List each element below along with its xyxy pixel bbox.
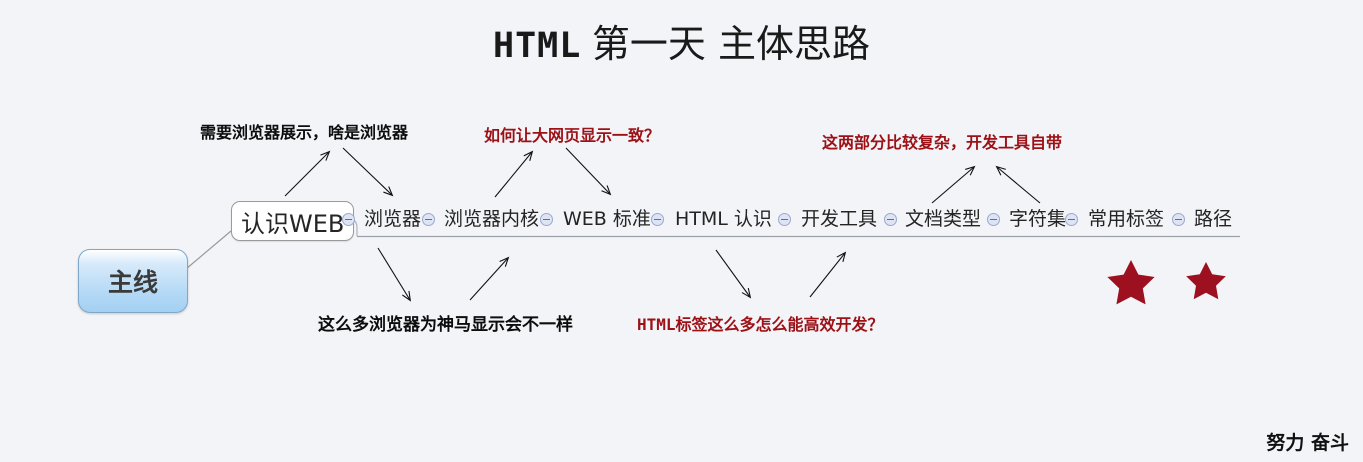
arrow-browser-to-annot4	[378, 248, 410, 300]
arrow-annot2-to-webstd	[566, 148, 610, 194]
mindmap-node-doctype[interactable]: 文档类型	[905, 206, 981, 232]
arrow-to-annot1	[285, 152, 329, 196]
arrow-to-annot2	[495, 152, 532, 197]
page-title: HTML 第一天 主体思路	[0, 22, 1363, 69]
mindmap-node-web-standard[interactable]: WEB 标准	[563, 206, 651, 232]
mindmap-root-node[interactable]: 主线	[78, 249, 188, 313]
mindmap-node-charset[interactable]: 字符集	[1009, 206, 1066, 232]
annotation-why-different-rendering: 这么多浏览器为神马显示会不一样	[318, 310, 573, 335]
minus-circle-icon-5[interactable]	[884, 213, 897, 226]
mindmap-node-common-tags[interactable]: 常用标签	[1088, 206, 1164, 232]
minus-circle-icon-1[interactable]	[422, 213, 435, 226]
minus-circle-icon-2[interactable]	[540, 213, 553, 226]
annotation-html-tags-efficiency-mono: HTML	[637, 315, 676, 334]
minus-circle-icon-3[interactable]	[651, 213, 664, 226]
minus-circle-icon-7[interactable]	[1065, 213, 1078, 226]
annotation-consistent-rendering: 如何让大网页显示一致？	[484, 122, 660, 146]
minus-circle-icon-6[interactable]	[987, 213, 1000, 226]
annotation-complex-parts: 这两部分比较复杂，开发工具自带	[822, 129, 1062, 153]
arrow-charset-to-annot3	[997, 167, 1040, 203]
annotation-browser-display: 需要浏览器展示，啥是浏览器	[200, 119, 408, 143]
arrow-annot1-to-browser	[343, 148, 392, 195]
arrow-doctype-to-annot3	[932, 167, 974, 203]
arrow-htmlcog-to-annot5	[716, 250, 750, 297]
mindmap-node-html-basics[interactable]: HTML 认识	[675, 206, 772, 232]
arrow-annot5-to-devtool	[810, 253, 845, 297]
star-marker-1	[1107, 260, 1154, 304]
minus-circle-icon-0[interactable]	[342, 213, 355, 226]
arrow-annot4-to-kernel	[470, 258, 508, 300]
mindmap-node-recognize-web[interactable]: 认识WEB	[231, 201, 354, 241]
annotation-html-tags-efficiency: HTML标签这么多怎么能高效开发？	[637, 311, 884, 335]
footer-note: 努力 奋斗	[1266, 428, 1349, 455]
mindmap-node-browser-kernel[interactable]: 浏览器内核	[444, 206, 539, 232]
minus-circle-icon-4[interactable]	[778, 213, 791, 226]
minus-circle-icon-8[interactable]	[1172, 213, 1185, 226]
connector-root-to-first	[186, 231, 231, 269]
page-title-cjk: 第一天 主体思路	[592, 22, 870, 66]
mindmap-node-browser[interactable]: 浏览器	[364, 206, 421, 232]
mindmap-canvas: HTML 第一天 主体思路	[0, 0, 1363, 462]
star-marker-2	[1186, 262, 1226, 299]
annotation-html-tags-efficiency-cjk: 标签这么多怎么能高效开发？	[676, 315, 884, 334]
mindmap-node-path[interactable]: 路径	[1194, 206, 1232, 232]
page-title-html: HTML	[493, 26, 581, 66]
mindmap-root-label: 主线	[108, 263, 158, 299]
mindmap-node-label: 认识WEB	[241, 204, 344, 239]
mindmap-node-dev-tools[interactable]: 开发工具	[801, 206, 877, 232]
